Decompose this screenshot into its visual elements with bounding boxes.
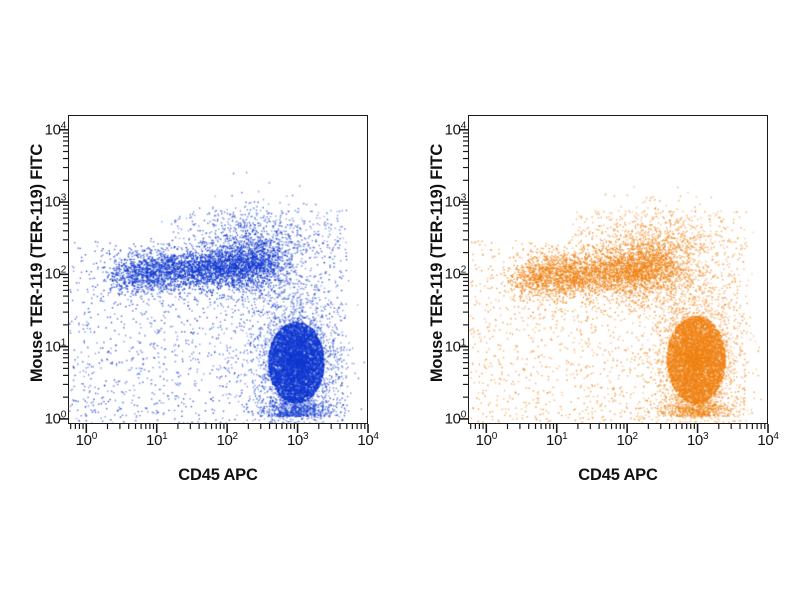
y-axis-title-left: Mouse TER-119 (TER-119) FITC	[24, 98, 50, 428]
plot-area-left[interactable]	[68, 115, 368, 424]
x-tick-label: 103	[287, 432, 308, 449]
x-tick-label: 103	[687, 432, 708, 449]
x-tick-label: 101	[546, 432, 567, 449]
x-tick-label: 104	[757, 432, 778, 449]
dot-plot-canvas-right[interactable]	[469, 116, 767, 423]
x-tick-label: 101	[146, 432, 167, 449]
x-tick-label: 100	[76, 432, 97, 449]
dot-plot-canvas-left[interactable]	[69, 116, 367, 423]
x-axis-title-left: CD45 APC	[68, 466, 368, 485]
x-tick-label: 102	[616, 432, 637, 449]
x-tick-label: 100	[476, 432, 497, 449]
y-axis-title-right: Mouse TER-119 (TER-119) FITC	[424, 98, 450, 428]
x-axis-title-right: CD45 APC	[468, 466, 768, 485]
plot-area-right[interactable]	[468, 115, 768, 424]
x-axis-tick-labels-left: 100101102103104	[68, 432, 368, 456]
x-tick-label: 102	[216, 432, 237, 449]
x-tick-label: 104	[357, 432, 378, 449]
scatter-panel-left: 100101102103104 100101102103104 Mouse TE…	[0, 0, 400, 600]
flow-cytometry-figure: 100101102103104 100101102103104 Mouse TE…	[0, 0, 800, 600]
scatter-panel-right: 100101102103104 100101102103104 Mouse TE…	[400, 0, 800, 600]
x-axis-tick-labels-right: 100101102103104	[468, 432, 768, 456]
